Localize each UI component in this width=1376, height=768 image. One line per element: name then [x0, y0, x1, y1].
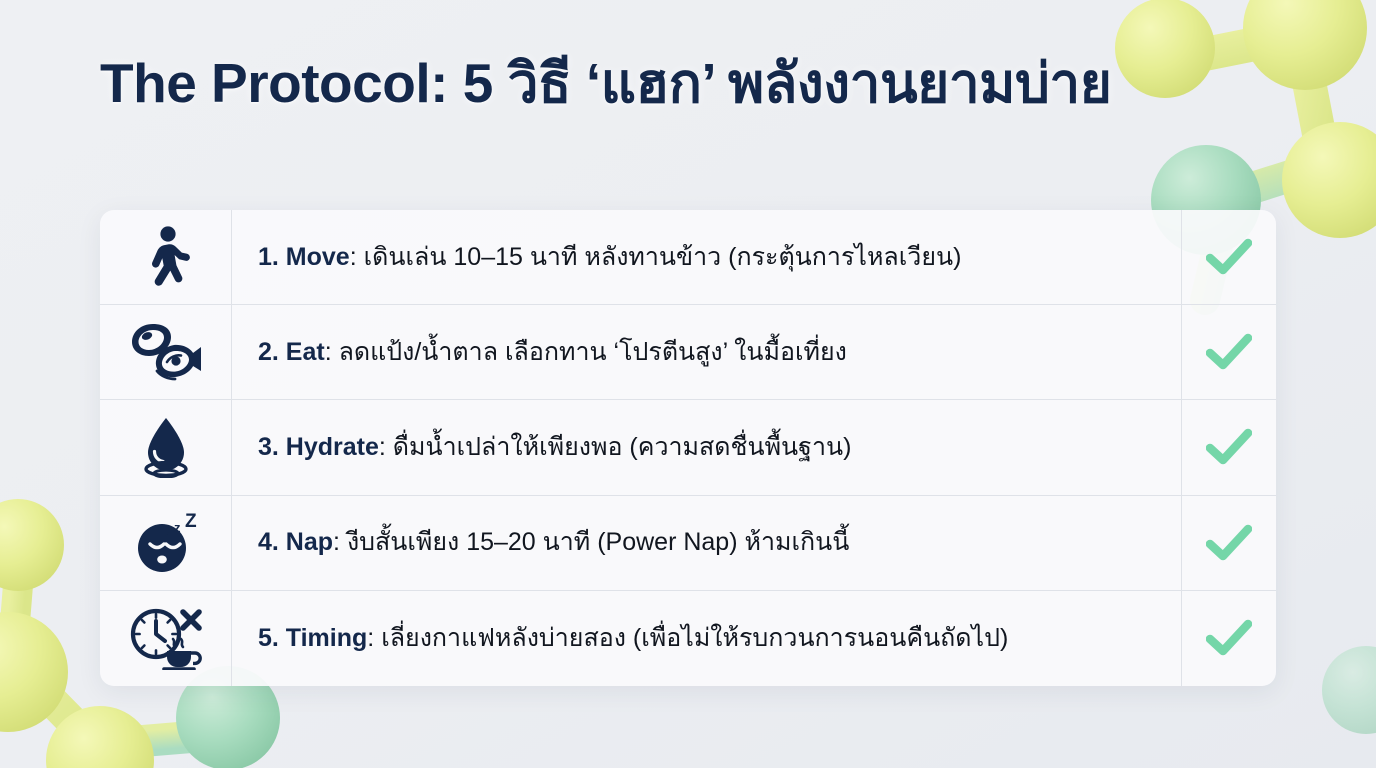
step-separator: : [379, 433, 393, 461]
step-lead: 1. Move [258, 243, 350, 271]
page-title-container: The Protocol: 5 วิธี ‘แฮก’ พลังงานยามบ่า… [100, 52, 1112, 116]
row-text-cell: 3. Hydrate: ดื่มน้ำเปล่าให้เพียงพอ (ความ… [232, 400, 1182, 494]
svg-text:Z: Z [185, 512, 197, 532]
step-lead: 5. Timing [258, 624, 367, 652]
step-separator: : [350, 243, 364, 271]
protocol-table: 1. Move: เดินเล่น 10–15 นาที หลังทานข้าว… [100, 210, 1276, 686]
row-status-cell [1182, 591, 1276, 686]
row-status-cell [1182, 400, 1276, 494]
step-text: 5. Timing: เลี่ยงกาแฟหลังบ่ายสอง (เพื่อไ… [258, 622, 1008, 655]
table-row[interactable]: 1. Move: เดินเล่น 10–15 นาที หลังทานข้าว… [100, 210, 1276, 305]
row-icon-cell [100, 210, 232, 304]
row-status-cell [1182, 496, 1276, 590]
step-lead: 4. Nap [258, 528, 333, 556]
walking-person-icon [138, 226, 194, 288]
row-icon-cell [100, 305, 232, 399]
table-row[interactable]: 5. Timing: เลี่ยงกาแฟหลังบ่ายสอง (เพื่อไ… [100, 591, 1276, 686]
row-icon-cell [100, 591, 232, 686]
steak-and-fish-icon [131, 323, 201, 381]
row-icon-cell [100, 400, 232, 494]
step-text: 1. Move: เดินเล่น 10–15 นาที หลังทานข้าว… [258, 241, 961, 274]
step-lead: 2. Eat [258, 338, 325, 366]
table-row[interactable]: 3. Hydrate: ดื่มน้ำเปล่าให้เพียงพอ (ความ… [100, 400, 1276, 495]
clock-coffee-no-icon [126, 606, 206, 670]
step-detail: เดินเล่น 10–15 นาที หลังทานข้าว (กระตุ้น… [364, 243, 962, 271]
check-icon [1206, 237, 1252, 277]
row-text-cell: 4. Nap: งีบสั้นเพียง 15–20 นาที (Power N… [232, 496, 1182, 590]
water-droplet-icon [136, 416, 196, 478]
check-icon [1206, 523, 1252, 563]
table-row[interactable]: 2. Eat: ลดแป้ง/น้ำตาล เลือกทาน ‘โปรตีนสู… [100, 305, 1276, 400]
svg-text:z: z [174, 520, 181, 535]
step-separator: : [367, 624, 381, 652]
check-icon [1206, 427, 1252, 467]
check-icon [1206, 332, 1252, 372]
step-separator: : [325, 338, 339, 366]
step-separator: : [333, 528, 347, 556]
row-status-cell [1182, 305, 1276, 399]
row-icon-cell: Z z z [100, 496, 232, 590]
row-status-cell [1182, 210, 1276, 304]
step-detail: ดื่มน้ำเปล่าให้เพียงพอ (ความสดชื่นพื้นฐา… [393, 433, 852, 461]
step-text: 4. Nap: งีบสั้นเพียง 15–20 นาที (Power N… [258, 526, 849, 559]
svg-text:z: z [165, 528, 170, 539]
page-title: The Protocol: 5 วิธี ‘แฮก’ พลังงานยามบ่า… [100, 52, 1112, 116]
row-text-cell: 2. Eat: ลดแป้ง/น้ำตาล เลือกทาน ‘โปรตีนสู… [232, 305, 1182, 399]
table-row[interactable]: Z z z 4. Nap: งีบสั้นเพียง 15–20 นาที (P… [100, 496, 1276, 591]
step-text: 2. Eat: ลดแป้ง/น้ำตาล เลือกทาน ‘โปรตีนสู… [258, 336, 847, 369]
step-detail: เลี่ยงกาแฟหลังบ่ายสอง (เพื่อไม่ให้รบกวนก… [381, 624, 1008, 652]
row-text-cell: 1. Move: เดินเล่น 10–15 นาที หลังทานข้าว… [232, 210, 1182, 304]
step-lead: 3. Hydrate [258, 433, 379, 461]
step-detail: งีบสั้นเพียง 15–20 นาที (Power Nap) ห้าม… [347, 528, 849, 556]
step-detail: ลดแป้ง/น้ำตาล เลือกทาน ‘โปรตีนสูง’ ในมื้… [339, 338, 847, 366]
step-text: 3. Hydrate: ดื่มน้ำเปล่าให้เพียงพอ (ความ… [258, 431, 851, 464]
row-text-cell: 5. Timing: เลี่ยงกาแฟหลังบ่ายสอง (เพื่อไ… [232, 591, 1182, 686]
check-icon [1206, 618, 1252, 658]
sleeping-face-icon: Z z z [133, 512, 199, 574]
